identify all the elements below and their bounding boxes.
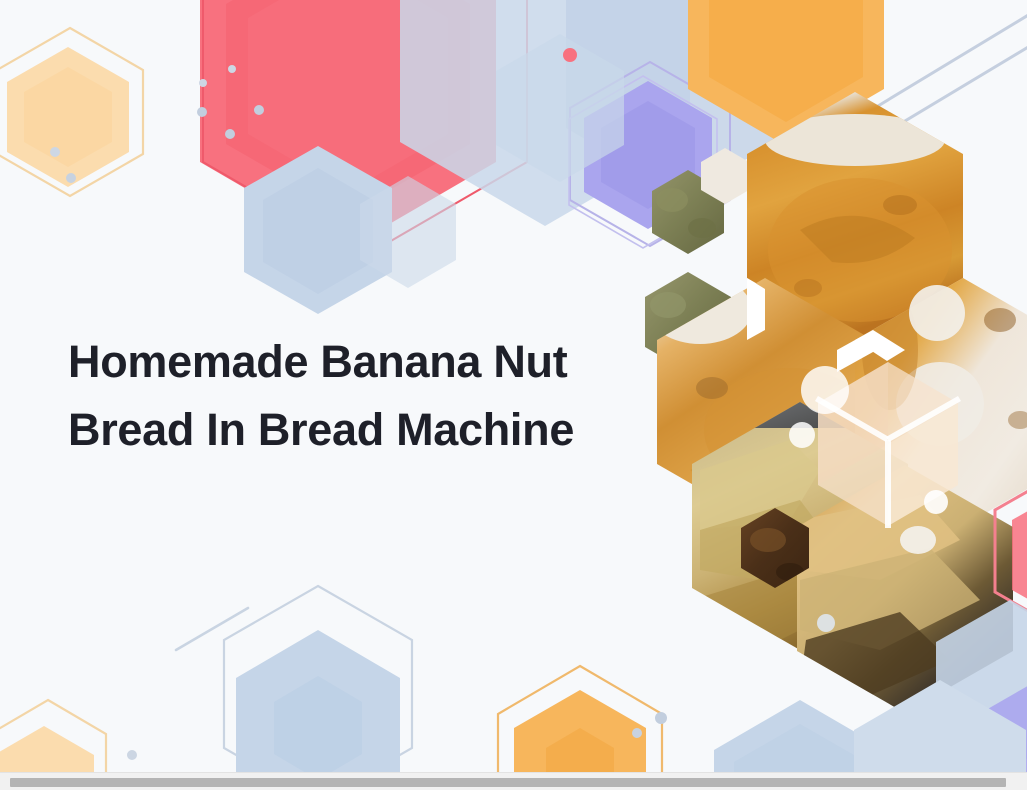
dot-blue: [632, 728, 642, 738]
dot-blue: [225, 129, 235, 139]
dot-blue: [197, 107, 207, 117]
horizontal-scrollbar[interactable]: [0, 772, 1027, 790]
dot-blue: [228, 65, 236, 73]
bubble-circle-tiny: [817, 614, 835, 632]
dot-blue: [254, 105, 264, 115]
bubble-circle-medium: [789, 422, 815, 448]
dot-blue: [50, 147, 60, 157]
dot-blue: [66, 173, 76, 183]
page-title: Homemade Banana Nut Bread In Bread Machi…: [68, 328, 648, 464]
bubble-circle-small: [924, 490, 948, 514]
dot-blue: [655, 712, 667, 724]
title-block: Homemade Banana Nut Bread In Bread Machi…: [68, 328, 648, 464]
dot-blue: [127, 750, 137, 760]
dot-coral: [563, 48, 577, 62]
bubble-circle-large: [801, 366, 849, 414]
dot-blue: [199, 79, 207, 87]
scrollbar-thumb[interactable]: [10, 778, 1006, 787]
slide-root: Homemade Banana Nut Bread In Bread Machi…: [0, 0, 1027, 790]
slide-canvas: Homemade Banana Nut Bread In Bread Machi…: [0, 0, 1027, 772]
bubble-circle-plate: [909, 285, 965, 341]
